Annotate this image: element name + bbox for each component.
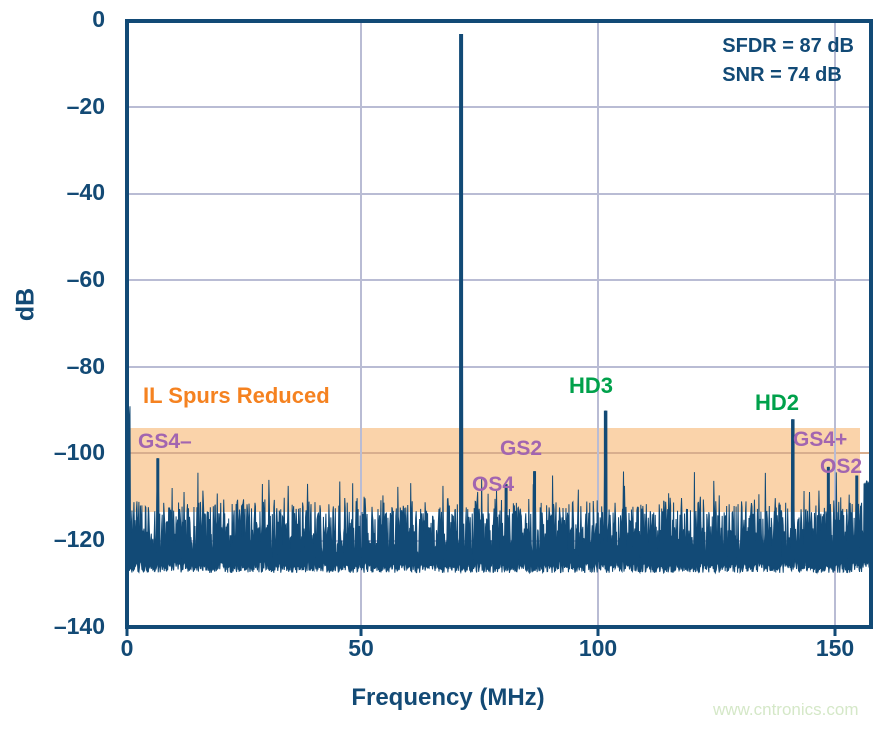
xtick-100: 100 [558, 637, 638, 660]
annotation-gs4-plus: GS4+ [793, 429, 847, 450]
stats-annotation: SFDR = 87 dB SNR = 74 dB [722, 32, 854, 90]
ytick-m100: –100 [0, 441, 105, 464]
annotation-gs2: GS2 [500, 438, 542, 459]
ytick-m140: –140 [0, 615, 105, 638]
spectrum-chart-figure: 0 –20 –40 –60 –80 –100 –120 –140 0 50 10… [0, 0, 896, 729]
annotation-il-spurs-reduced: IL Spurs Reduced [143, 385, 330, 407]
annotation-hd2: HD2 [755, 392, 799, 414]
annotation-os2: OS2 [820, 456, 862, 477]
annotation-os4: OS4 [472, 474, 514, 495]
y-axis-title: dB [12, 285, 41, 325]
ytick-m20: –20 [0, 95, 105, 118]
plot-canvas [0, 0, 896, 729]
il-spurs-band [127, 428, 860, 512]
ytick-m40: –40 [0, 181, 105, 204]
xtick-150: 150 [795, 637, 875, 660]
ytick-m120: –120 [0, 528, 105, 551]
ytick-m80: –80 [0, 355, 105, 378]
sfdr-value: SFDR = 87 dB [722, 32, 854, 61]
ytick-0: 0 [0, 8, 105, 31]
snr-value: SNR = 74 dB [722, 61, 854, 90]
annotation-hd3: HD3 [569, 375, 613, 397]
annotation-gs4-minus: GS4– [138, 431, 192, 452]
xtick-50: 50 [321, 637, 401, 660]
xtick-0: 0 [87, 637, 167, 660]
site-watermark: www.cntronics.com [713, 700, 858, 720]
